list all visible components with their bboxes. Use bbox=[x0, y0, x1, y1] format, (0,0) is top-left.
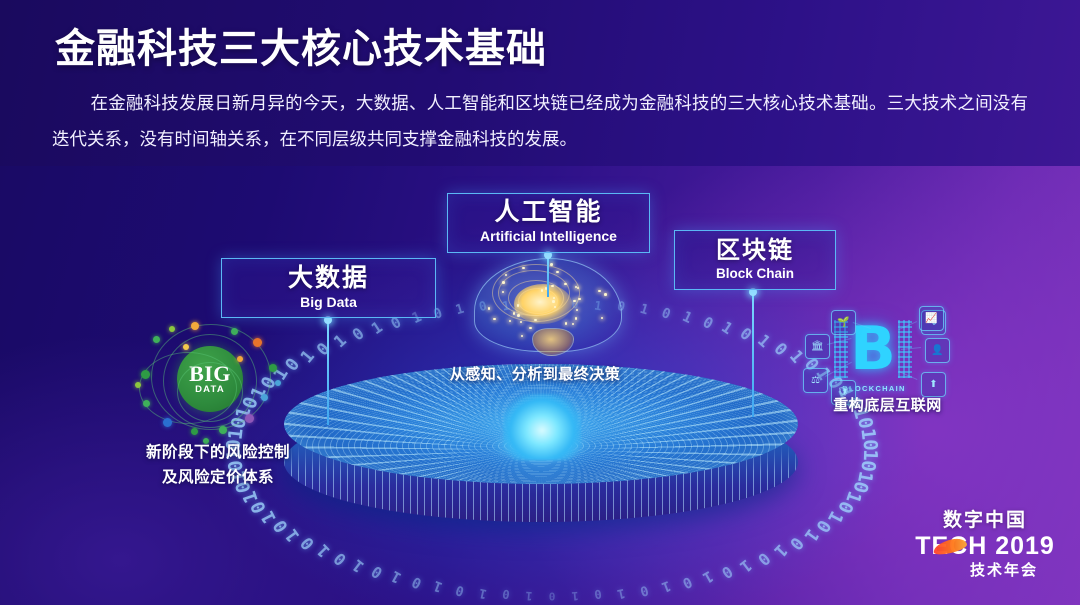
label-ai-en: Artificial Intelligence bbox=[448, 227, 649, 245]
disc-platform bbox=[274, 360, 808, 560]
brain-neuron-spark bbox=[529, 327, 532, 330]
binary-digit: 1 bbox=[638, 302, 650, 319]
label-block-chain-cn: 区块链 bbox=[675, 231, 835, 265]
big-data-node-icon bbox=[237, 356, 243, 362]
brain-neuron-spark bbox=[541, 289, 544, 292]
label-box-big-data[interactable]: 大数据 Big Data bbox=[221, 258, 436, 318]
label-box-artificial-intelligence[interactable]: 人工智能 Artificial Intelligence bbox=[447, 193, 650, 253]
brain-neuron-spark bbox=[604, 293, 607, 296]
brain-neuron-spark bbox=[550, 263, 553, 266]
label-big-data-en: Big Data bbox=[222, 293, 435, 311]
binary-digit: 1 bbox=[699, 567, 716, 587]
big-data-node-icon bbox=[269, 364, 277, 372]
big-data-node-icon bbox=[191, 322, 199, 330]
binary-digit: 0 bbox=[812, 516, 836, 536]
label-ai-cn: 人工智能 bbox=[448, 194, 649, 227]
binary-digit: 1 bbox=[857, 427, 880, 441]
label-big-data-cn: 大数据 bbox=[222, 259, 435, 293]
big-data-node-icon bbox=[219, 426, 227, 434]
big-data-node-icon bbox=[153, 336, 160, 343]
brain-neuron-spark bbox=[513, 312, 516, 315]
binary-digit: 1 bbox=[659, 577, 673, 595]
label-box-block-chain[interactable]: 区块链 Block Chain bbox=[674, 230, 836, 290]
brain-neuron-spark bbox=[517, 314, 520, 317]
binary-digit: 1 bbox=[454, 302, 466, 319]
binary-digit: 0 bbox=[859, 439, 881, 451]
brain-neuron-spark bbox=[493, 318, 496, 321]
binary-digit: 1 bbox=[388, 567, 405, 587]
logo-line-3: 技术年会 bbox=[905, 560, 1065, 580]
binary-digit: 1 bbox=[859, 449, 881, 461]
binary-digit: 0 bbox=[368, 562, 386, 582]
core-glow-icon bbox=[503, 394, 581, 460]
brain-cerebellum bbox=[532, 328, 574, 356]
big-data-node-icon bbox=[143, 400, 150, 407]
binary-digit: 0 bbox=[454, 581, 466, 598]
binary-digit: 0 bbox=[857, 459, 880, 473]
big-data-node-icon bbox=[163, 418, 172, 427]
big-data-node-icon bbox=[253, 338, 262, 347]
binary-digit: 0 bbox=[699, 313, 716, 333]
binary-digit: 1 bbox=[616, 584, 627, 600]
caption-block-chain: 重构底层互联网 bbox=[795, 394, 980, 415]
blockchain-node-icon: 👤 bbox=[925, 338, 950, 363]
brain-neuron-spark bbox=[502, 281, 505, 284]
brain-neuron-spark bbox=[522, 267, 525, 270]
binary-digit: 0 bbox=[848, 479, 871, 495]
caption-artificial-intelligence: 从感知、分析到最终决策 bbox=[420, 363, 650, 384]
big-data-node-icon bbox=[245, 414, 254, 423]
binary-digit: 1 bbox=[239, 488, 262, 505]
binary-digit: 1 bbox=[719, 318, 737, 338]
binary-digit: 1 bbox=[330, 331, 350, 352]
binary-digit: 1 bbox=[680, 309, 695, 327]
brain-neuron-spark bbox=[552, 300, 555, 303]
binary-digit: 0 bbox=[833, 498, 857, 516]
binary-digit: 1 bbox=[368, 318, 386, 338]
big-data-node-icon bbox=[169, 326, 175, 332]
logo-line-1: 数字中国 bbox=[905, 508, 1065, 532]
brain-neuron-spark bbox=[573, 300, 576, 303]
brain-neuron-spark bbox=[551, 285, 554, 288]
big-data-node-icon bbox=[261, 394, 268, 401]
big-data-node-icon bbox=[275, 380, 281, 386]
binary-digit: 0 bbox=[501, 587, 510, 602]
binary-digit: 1 bbox=[477, 584, 488, 600]
blockchain-node-icon: ⚖ bbox=[803, 368, 828, 393]
binary-digit: 0 bbox=[770, 338, 791, 359]
binary-digit: 1 bbox=[841, 488, 864, 505]
label-block-chain-en: Block Chain bbox=[675, 265, 835, 283]
caption-big-data-line1: 新阶段下的风险控制 bbox=[103, 440, 333, 465]
brain-neuron-spark bbox=[578, 298, 581, 301]
binary-digit: 0 bbox=[549, 590, 556, 603]
caption-big-data-line2: 及风险定价体系 bbox=[103, 465, 333, 490]
logo-line-2: TECH 2019 bbox=[905, 532, 1065, 560]
binary-digit: 1 bbox=[823, 507, 847, 526]
brain-neuron-spark bbox=[488, 307, 491, 310]
intro-paragraph: 在金融科技发展日新月异的今天，大数据、人工智能和区块链已经成为金融科技的三大核心… bbox=[52, 86, 1028, 158]
binary-digit: 0 bbox=[638, 581, 650, 598]
brain-neuron-spark bbox=[564, 283, 567, 286]
binary-digit: 0 bbox=[594, 587, 603, 602]
connector-block-chain bbox=[752, 292, 754, 417]
binary-digit: 1 bbox=[853, 469, 877, 484]
big-data-icon-cluster: BIG DATA bbox=[133, 318, 285, 442]
connector-artificial-intelligence bbox=[547, 255, 549, 297]
brain-neuron-spark bbox=[534, 319, 537, 322]
slide-root: 金融科技三大核心技术基础 在金融科技发展日新月异的今天，大数据、人工智能和区块链… bbox=[0, 0, 1080, 605]
big-data-node-icon bbox=[231, 328, 238, 335]
big-data-node-icon bbox=[141, 370, 150, 379]
page-title: 金融科技三大核心技术基础 bbox=[55, 16, 547, 74]
binary-digit: 0 bbox=[410, 573, 425, 591]
blockchain-node-icon: 🏛 bbox=[805, 334, 830, 359]
brain-neuron-spark bbox=[556, 271, 559, 274]
big-data-orbit-line bbox=[177, 362, 243, 422]
binary-digit: 1 bbox=[525, 588, 533, 602]
binary-digit: 1 bbox=[571, 588, 579, 602]
big-data-node-icon bbox=[191, 428, 198, 435]
connector-big-data bbox=[327, 320, 329, 425]
caption-big-data: 新阶段下的风险控制 及风险定价体系 bbox=[103, 440, 333, 490]
binary-digit: 0 bbox=[348, 324, 367, 345]
big-data-node-icon bbox=[135, 382, 141, 388]
binary-digit: 0 bbox=[659, 305, 673, 323]
binary-digit: 0 bbox=[719, 562, 737, 582]
binary-digit: 1 bbox=[432, 577, 446, 595]
binary-digit: 0 bbox=[680, 573, 695, 591]
binary-digit: 1 bbox=[754, 331, 774, 352]
binary-digit: 0 bbox=[853, 416, 877, 431]
blockchain-node-icon: 📈 bbox=[919, 306, 944, 331]
brain-fold-line bbox=[492, 264, 580, 322]
big-data-node-icon bbox=[183, 344, 189, 350]
event-logo: 数字中国 TECH 2019 技术年会 bbox=[905, 508, 1065, 590]
binary-digit: 0 bbox=[248, 498, 272, 516]
binary-digit: 0 bbox=[312, 338, 333, 359]
